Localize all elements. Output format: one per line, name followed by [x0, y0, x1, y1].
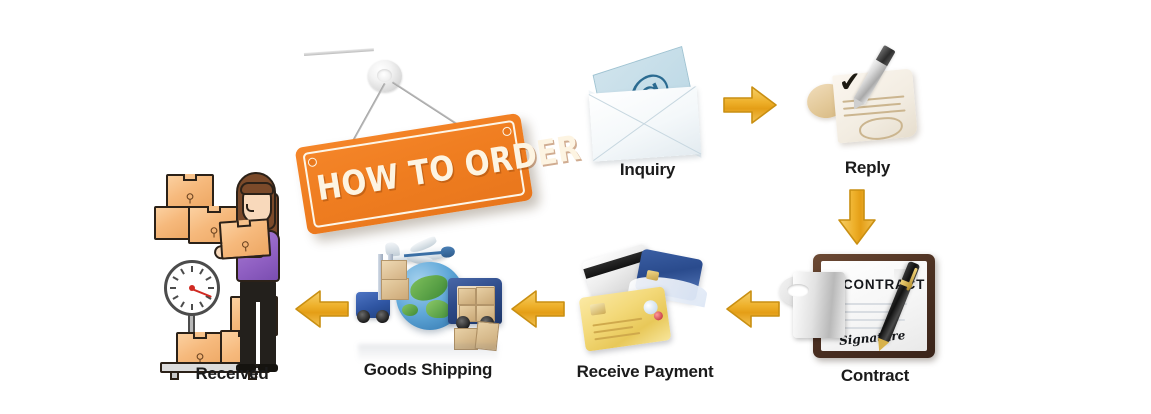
dial-tick	[172, 295, 178, 300]
hook-ring-icon	[368, 60, 402, 92]
arrow-down-icon	[836, 188, 878, 246]
cargo-box	[458, 288, 476, 305]
globe-landmass	[426, 300, 450, 318]
person-nose	[246, 204, 254, 212]
person-leg-gap	[256, 302, 260, 364]
card-chip	[590, 303, 606, 316]
forklift-pallet-box	[381, 260, 407, 280]
globe-landmass	[402, 304, 418, 316]
box-flap	[183, 174, 197, 181]
card-number-line	[592, 318, 642, 327]
dial-tick	[199, 268, 204, 274]
fragile-symbol: ⚲	[183, 192, 197, 204]
arrow-left-icon	[723, 288, 781, 330]
label-contract: Contract	[805, 366, 945, 386]
how-to-order-sign: HOW TO ORDER	[292, 36, 542, 236]
envelope-folds	[589, 86, 701, 161]
pen-cap	[876, 45, 896, 66]
dial-tick	[199, 301, 204, 307]
dial-tick	[180, 301, 185, 307]
dial-tick	[172, 276, 178, 281]
hook-bar	[304, 48, 374, 56]
clipboard-clip	[793, 272, 845, 338]
step-received: ⚲ ⚲	[152, 172, 312, 394]
box-flap	[237, 220, 251, 228]
scroll-signature-blob	[858, 116, 904, 142]
dial-tick	[205, 276, 211, 281]
arrow-left-icon	[508, 288, 566, 330]
globe-landmass	[409, 273, 450, 302]
person-hair-bangs	[240, 182, 274, 195]
arrow-right-icon	[722, 84, 778, 126]
fragile-symbol: ⚲	[238, 240, 253, 253]
credit-card-gold	[579, 286, 672, 351]
cargo-box	[476, 287, 495, 305]
clipboard-clip-hole	[787, 284, 809, 297]
cardboard-box	[154, 206, 192, 240]
weighing-scale-dial	[164, 260, 220, 316]
sign-plate: HOW TO ORDER	[295, 113, 534, 236]
box-flap	[193, 332, 207, 339]
box-flap	[207, 206, 221, 213]
dial-hub	[189, 285, 195, 291]
cardboard-box: ⚲	[166, 174, 214, 210]
label-receive-payment: Receive Payment	[570, 362, 720, 382]
contract-signature: Signature	[839, 328, 906, 348]
cardboard-box-in-hands: ⚲	[219, 218, 272, 259]
delivery-truck-icon	[448, 278, 502, 324]
scroll-text-line	[844, 109, 906, 117]
card-logo-dot	[653, 311, 663, 321]
label-inquiry: Inquiry	[585, 160, 710, 180]
label-reply: Reply	[805, 158, 930, 178]
dial-tick	[191, 304, 193, 310]
forklift-wheel	[357, 310, 370, 323]
card-number-line	[594, 332, 640, 341]
hook-hole	[377, 69, 392, 82]
arrow-left-icon	[292, 288, 350, 330]
dial-tick	[208, 287, 214, 289]
dial-tick	[180, 268, 185, 274]
label-goods-shipping: Goods Shipping	[348, 360, 508, 380]
how-to-order-infographic: HOW TO ORDER @ Inquiry ✔	[0, 0, 1151, 414]
dial-tick	[170, 287, 176, 289]
dial-tick	[191, 266, 193, 272]
label-received: Received	[152, 364, 312, 384]
forklift-wheel	[376, 310, 389, 323]
dial-needle	[192, 288, 212, 298]
forklift-pallet-box	[381, 278, 409, 300]
